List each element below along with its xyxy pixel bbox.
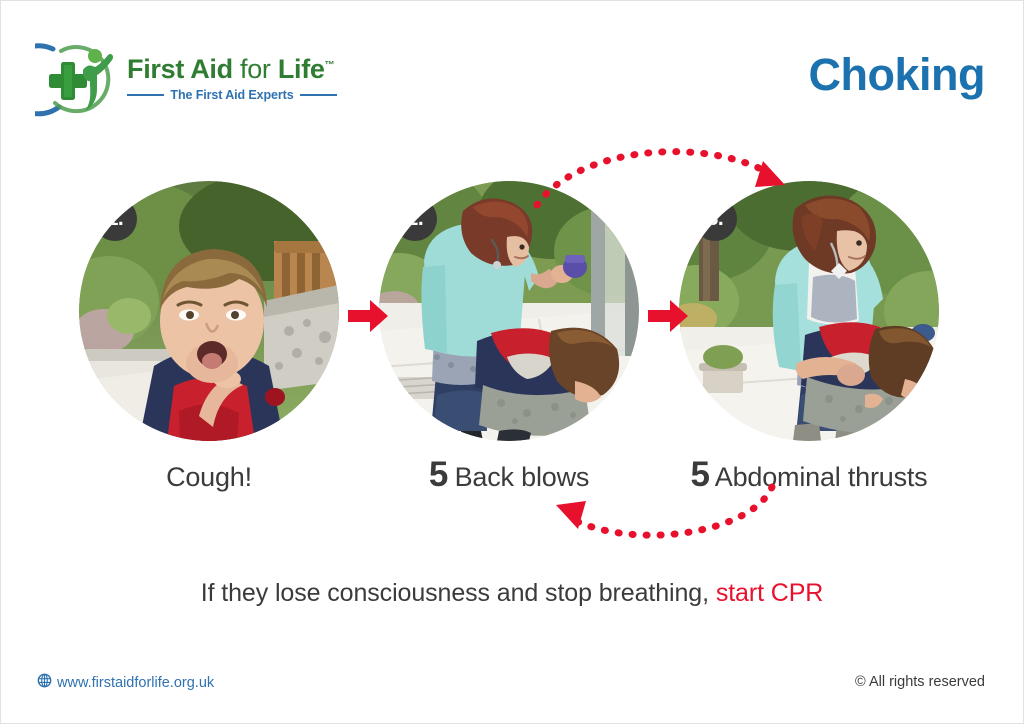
- logo-name: First Aid for Life™: [127, 51, 337, 84]
- step-1-label: Cough!: [166, 462, 252, 492]
- tagline-rule-right: [300, 94, 337, 96]
- step-badge-1: 1.: [93, 197, 137, 241]
- website-link[interactable]: www.firstaidforlife.org.uk: [37, 673, 214, 692]
- photo-boy-choking-clutching-throat: 1.: [79, 181, 339, 441]
- cpr-instruction-text: If they lose consciousness and stop brea…: [201, 579, 709, 607]
- logo-tagline-row: The First Aid Experts: [127, 88, 337, 102]
- logo-mark: [35, 37, 119, 117]
- tagline-rule-left: [127, 94, 164, 96]
- step-badge-3: 3.: [693, 197, 737, 241]
- logo-name-bold2: Life: [278, 54, 325, 84]
- step-2-count: 5: [429, 455, 447, 494]
- logo-wordmark: First Aid for Life™ The First Aid Expert…: [127, 51, 337, 102]
- start-cpr-highlight: start CPR: [716, 579, 823, 607]
- cpr-instruction: If they lose consciousness and stop brea…: [1, 579, 1023, 608]
- step-2-back-blows: 2. 5 Back blows: [379, 181, 639, 494]
- step-3-abdominal-thrusts: 3. 5 Abdominal thrusts: [679, 181, 939, 494]
- step-badge-2: 2.: [393, 197, 437, 241]
- red-right-arrow-icon: [346, 296, 390, 336]
- step-1-cough: 1. Cough!: [79, 181, 339, 494]
- first-aid-for-life-logo[interactable]: First Aid for Life™ The First Aid Expert…: [35, 37, 335, 119]
- logo-name-bold1: First Aid: [127, 54, 233, 84]
- red-dotted-curved-arrow-left-icon: [526, 481, 786, 551]
- photo-woman-giving-abdominal-thrusts-to-boy: 3.: [679, 181, 939, 441]
- step-1-caption: Cough!: [79, 458, 339, 494]
- copyright-notice: © All rights reserved: [855, 674, 985, 690]
- logo-tagline: The First Aid Experts: [170, 88, 293, 102]
- choking-first-aid-poster: First Aid for Life™ The First Aid Expert…: [0, 0, 1024, 724]
- red-dotted-curved-arrow-right-icon: [531, 133, 801, 223]
- website-url: www.firstaidforlife.org.uk: [57, 675, 214, 691]
- page-title: Choking: [809, 49, 985, 101]
- globe-icon: [37, 673, 52, 692]
- logo-name-light: for: [240, 54, 271, 84]
- trademark-symbol: ™: [325, 60, 335, 71]
- red-right-arrow-icon: [646, 296, 690, 336]
